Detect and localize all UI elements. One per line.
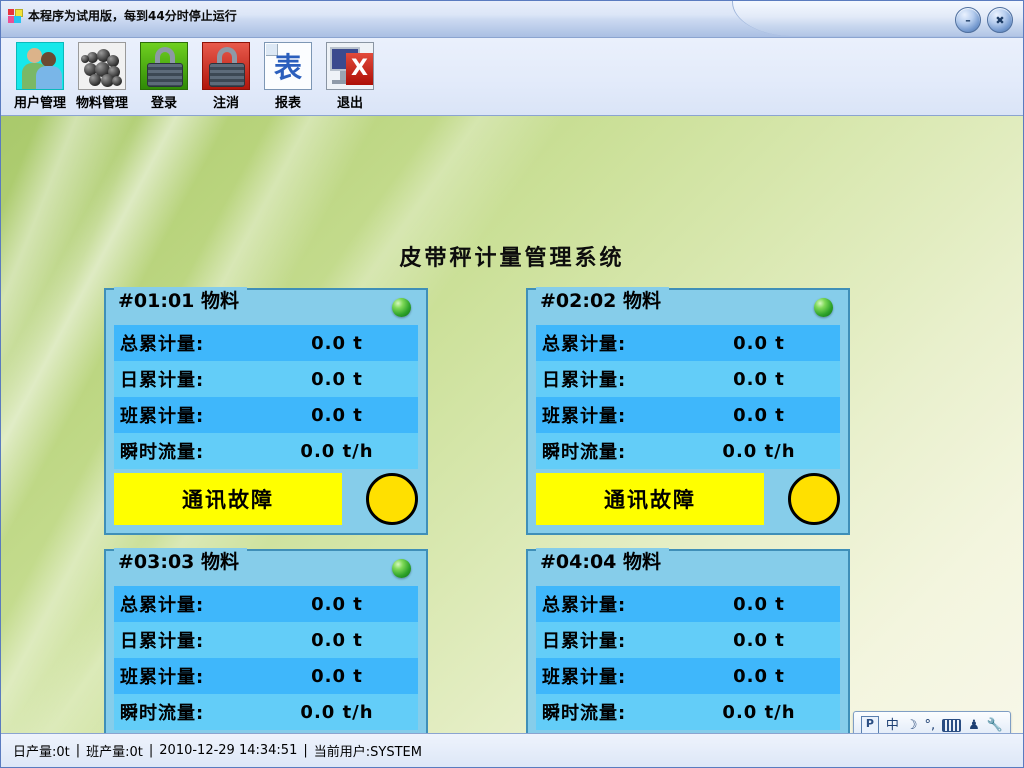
row-value: 0.0 t/h — [684, 702, 834, 723]
table-row: 总累计量: 0.0 t — [114, 586, 418, 622]
status-separator: | — [70, 743, 86, 758]
row-value: 0.0 t/h — [262, 702, 412, 723]
table-row: 日累计量: 0.0 t — [536, 622, 840, 658]
scale-panel-04[interactable]: #04:04 物料 总累计量: 0.0 t 日累计量: 0.0 t 班累计量: … — [526, 549, 850, 733]
toolbar-button-user-management[interactable]: 用户管理 — [9, 42, 71, 111]
window-controls: – ✖ — [955, 7, 1013, 33]
table-row: 总累计量: 0.0 t — [114, 325, 418, 361]
ime-language-bar[interactable]: P 中 ☽ °, ♟ 🔧 — [853, 711, 1011, 733]
scale-panel-02-legend: #02:02 物料 — [536, 287, 669, 315]
row-value: 0.0 t/h — [262, 441, 412, 462]
scale-panel-03-status: 通讯故障 — [114, 732, 418, 733]
status-daily-output: 日产量:0t — [13, 741, 70, 760]
client-area: 皮带秤计量管理系统 #01:01 物料 总累计量: 0.0 t 日累计量: 0.… — [1, 116, 1023, 733]
row-label: 总累计量: — [120, 591, 262, 617]
row-value: 0.0 t — [262, 630, 412, 651]
toolbar-button-login[interactable]: 登录 — [133, 42, 195, 111]
row-label: 日累计量: — [120, 627, 262, 653]
scale-panel-04-legend: #04:04 物料 — [536, 548, 669, 576]
toolbar-label-logout: 注消 — [213, 92, 239, 111]
alarm-banner-01: 通讯故障 — [114, 473, 342, 525]
row-value: 0.0 t — [684, 594, 834, 615]
row-value: 0.0 t — [262, 594, 412, 615]
row-value: 0.0 t — [262, 666, 412, 687]
status-bar: 日产量:0t | 班产量:0t | 2010-12-29 14:34:51 | … — [1, 733, 1023, 767]
row-value: 0.0 t — [262, 369, 412, 390]
table-row: 总累计量: 0.0 t — [536, 586, 840, 622]
status-led-icon-02 — [814, 298, 833, 317]
row-label: 瞬时流量: — [120, 438, 262, 464]
scale-panel-01[interactable]: #01:01 物料 总累计量: 0.0 t 日累计量: 0.0 t 班累计量: … — [104, 288, 428, 535]
toolbar-label-user-management: 用户管理 — [14, 92, 66, 111]
table-row: 瞬时流量: 0.0 t/h — [114, 433, 418, 469]
toolbar-button-report[interactable]: 表 报表 — [257, 42, 319, 111]
status-datetime: 2010-12-29 14:34:51 — [159, 743, 297, 758]
scale-panel-01-rows: 总累计量: 0.0 t 日累计量: 0.0 t 班累计量: 0.0 t 瞬时流量… — [114, 325, 418, 469]
ime-mode-chinese[interactable]: 中 — [886, 719, 899, 732]
green-lock-icon — [140, 42, 188, 90]
toolbar-label-exit: 退出 — [337, 92, 363, 111]
status-current-user: 当前用户:SYSTEM — [314, 741, 422, 760]
report-icon-glyph: 表 — [265, 51, 311, 85]
toolbar-button-logout[interactable]: 注消 — [195, 42, 257, 111]
coal-material-icon — [78, 42, 126, 90]
keyboard-icon[interactable] — [942, 719, 961, 732]
row-label: 班累计量: — [542, 402, 684, 428]
scale-panel-03-rows: 总累计量: 0.0 t 日累计量: 0.0 t 班累计量: 0.0 t 瞬时流量… — [114, 586, 418, 730]
status-led-icon-01 — [392, 298, 411, 317]
status-led-icon-03 — [392, 559, 411, 578]
row-label: 日累计量: — [542, 627, 684, 653]
row-label: 总累计量: — [542, 330, 684, 356]
scale-panel-02-rows: 总累计量: 0.0 t 日累计量: 0.0 t 班累计量: 0.0 t 瞬时流量… — [536, 325, 840, 469]
row-label: 日累计量: — [120, 366, 262, 392]
title-bar-left: 本程序为试用版，每到44分时停止运行 — [8, 7, 237, 24]
punctuation-icon[interactable]: °, — [925, 719, 936, 732]
row-label: 班累计量: — [120, 402, 262, 428]
scale-panel-03[interactable]: #03:03 物料 总累计量: 0.0 t 日累计量: 0.0 t 班累计量: … — [104, 549, 428, 733]
table-row: 日累计量: 0.0 t — [114, 622, 418, 658]
table-row: 日累计量: 0.0 t — [536, 361, 840, 397]
scale-panel-01-status: 通讯故障 — [114, 471, 418, 527]
toolbar-label-login: 登录 — [151, 92, 177, 111]
row-label: 班累计量: — [120, 663, 262, 689]
row-value: 0.0 t — [684, 369, 834, 390]
indicator-lamp-01 — [366, 473, 418, 525]
application-window: 本程序为试用版，每到44分时停止运行 – ✖ 用户管理 — [0, 0, 1024, 768]
toolbar-label-report: 报表 — [275, 92, 301, 111]
toolbar-button-material-management[interactable]: 物料管理 — [71, 42, 133, 111]
alarm-banner-02: 通讯故障 — [536, 473, 764, 525]
indicator-lamp-02 — [788, 473, 840, 525]
page-title: 皮带秤计量管理系统 — [1, 240, 1023, 272]
row-label: 班累计量: — [542, 663, 684, 689]
scale-panel-02-status: 通讯故障 — [536, 471, 840, 527]
row-value: 0.0 t — [262, 333, 412, 354]
toolbar-label-material-management: 物料管理 — [76, 92, 128, 111]
row-value: 0.0 t/h — [684, 441, 834, 462]
table-row: 日累计量: 0.0 t — [114, 361, 418, 397]
row-value: 0.0 t — [684, 333, 834, 354]
table-row: 班累计量: 0.0 t — [114, 658, 418, 694]
exit-x-glyph: X — [346, 53, 373, 85]
scale-panel-02[interactable]: #02:02 物料 总累计量: 0.0 t 日累计量: 0.0 t 班累计量: … — [526, 288, 850, 535]
row-value: 0.0 t — [684, 630, 834, 651]
exit-monitor-icon: X — [326, 42, 374, 90]
row-label: 瞬时流量: — [542, 699, 684, 725]
row-value: 0.0 t — [684, 405, 834, 426]
table-row: 总累计量: 0.0 t — [536, 325, 840, 361]
close-button[interactable]: ✖ — [987, 7, 1013, 33]
user-dictionary-icon[interactable]: ♟ — [968, 719, 980, 732]
scale-panel-04-rows: 总累计量: 0.0 t 日累计量: 0.0 t 班累计量: 0.0 t 瞬时流量… — [536, 586, 840, 730]
row-value: 0.0 t — [684, 666, 834, 687]
row-value: 0.0 t — [262, 405, 412, 426]
scale-panel-04-status: 通讯故障 — [536, 732, 840, 733]
wrench-settings-icon[interactable]: 🔧 — [987, 719, 1003, 732]
row-label: 总累计量: — [542, 591, 684, 617]
window-title: 本程序为试用版，每到44分时停止运行 — [28, 7, 237, 24]
report-icon: 表 — [264, 42, 312, 90]
row-label: 总累计量: — [120, 330, 262, 356]
table-row: 班累计量: 0.0 t — [114, 397, 418, 433]
toolbar-button-exit[interactable]: X 退出 — [319, 42, 381, 111]
ime-logo-icon[interactable]: P — [861, 716, 879, 733]
users-icon — [16, 42, 64, 90]
table-row: 瞬时流量: 0.0 t/h — [536, 433, 840, 469]
table-row: 班累计量: 0.0 t — [536, 397, 840, 433]
row-label: 瞬时流量: — [120, 699, 262, 725]
row-label: 日累计量: — [542, 366, 684, 392]
app-logo-icon — [8, 9, 23, 23]
main-toolbar: 用户管理 物料管理 登录 — [1, 38, 1023, 116]
scale-panel-03-legend: #03:03 物料 — [114, 548, 247, 576]
crescent-moon-icon[interactable]: ☽ — [906, 719, 918, 732]
row-label: 瞬时流量: — [542, 438, 684, 464]
title-bar: 本程序为试用版，每到44分时停止运行 – ✖ — [1, 1, 1023, 38]
scale-panel-01-legend: #01:01 物料 — [114, 287, 247, 315]
status-separator: | — [297, 743, 313, 758]
table-row: 班累计量: 0.0 t — [536, 658, 840, 694]
red-lock-icon — [202, 42, 250, 90]
table-row: 瞬时流量: 0.0 t/h — [114, 694, 418, 730]
status-shift-output: 班产量:0t — [86, 741, 143, 760]
table-row: 瞬时流量: 0.0 t/h — [536, 694, 840, 730]
minimize-button[interactable]: – — [955, 7, 981, 33]
status-separator: | — [143, 743, 159, 758]
